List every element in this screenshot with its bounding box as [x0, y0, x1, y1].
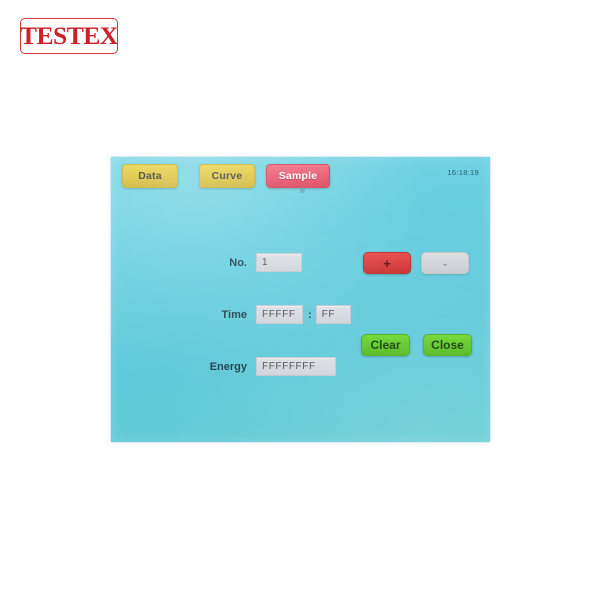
tab-curve[interactable]: Curve [199, 164, 255, 188]
energy-label: Energy [193, 361, 247, 373]
clock-display: 16:18:19 [447, 168, 479, 177]
time-hours-input[interactable]: FFFFF [256, 305, 303, 324]
time-separator: : [308, 309, 312, 321]
device-screen-panel: Data Curve Sample 16:18:19 No. 1 Time FF… [111, 157, 490, 442]
clear-button[interactable]: Clear [361, 334, 410, 356]
testex-logo: TESTEX [20, 18, 118, 54]
no-label: No. [211, 257, 247, 269]
field-row-no: No. 1 [211, 253, 302, 272]
close-button[interactable]: Close [423, 334, 472, 356]
close-button-label: Close [431, 338, 464, 352]
plus-icon: + [383, 256, 391, 271]
tab-sample[interactable]: Sample [266, 164, 330, 188]
field-row-energy: Energy FFFFFFFF [193, 357, 336, 376]
tab-curve-label: Curve [212, 170, 243, 182]
time-minutes-input[interactable]: FF [316, 305, 351, 324]
tab-data[interactable]: Data [122, 164, 178, 188]
clear-button-label: Clear [370, 338, 400, 352]
energy-input[interactable]: FFFFFFFF [256, 357, 336, 376]
decrement-button[interactable]: - [421, 252, 469, 274]
tab-sample-label: Sample [279, 170, 318, 182]
testex-logo-text: TESTEX [20, 24, 118, 49]
time-label: Time [205, 309, 247, 321]
touch-cursor-marker [299, 187, 305, 193]
tab-data-label: Data [138, 170, 162, 182]
increment-button[interactable]: + [363, 252, 411, 274]
field-row-time: Time FFFFF : FF [205, 305, 351, 324]
no-input[interactable]: 1 [256, 253, 302, 272]
minus-icon: - [443, 256, 447, 271]
